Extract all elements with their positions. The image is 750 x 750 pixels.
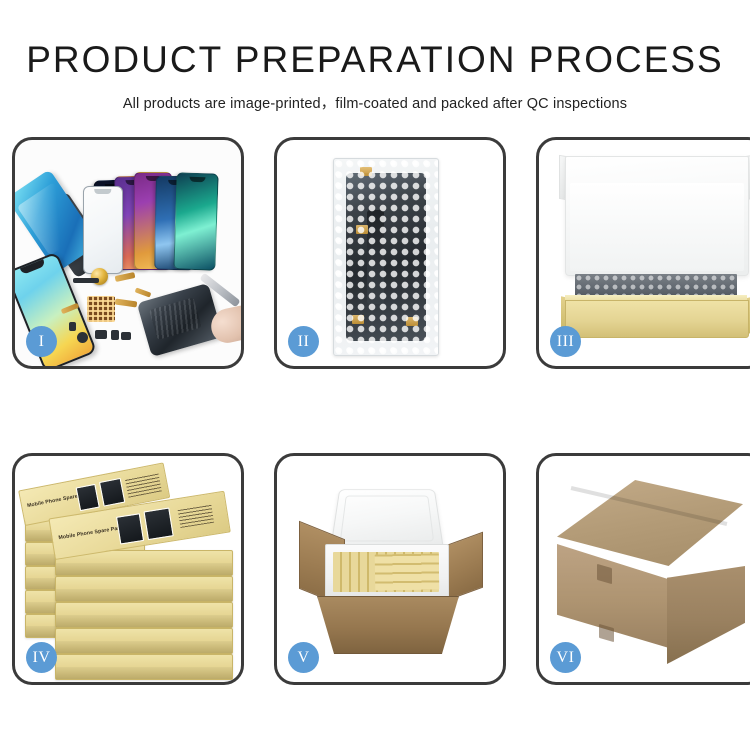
box-label-photo-icon [144, 507, 174, 540]
logic-board-chip-icon [87, 296, 115, 322]
carton-side-face [667, 566, 745, 664]
step-badge-6: VI [550, 642, 581, 673]
process-step-panel-6: VI [536, 453, 750, 685]
small-part-icon [69, 322, 76, 331]
product-preparation-process-page: PRODUCT PREPARATION PROCESS All products… [0, 0, 750, 750]
page-subtitle: All products are image-printed，film-coat… [0, 81, 750, 113]
small-part-icon [95, 330, 107, 339]
tape-strip-icon [360, 167, 372, 176]
box-label-text: Mobile Phone Spare Parts [58, 525, 125, 541]
process-step-panel-3: III [536, 137, 750, 369]
box-label-photo-icon [99, 478, 125, 507]
step-badge-1: I [26, 326, 57, 357]
step-badge-5: V [288, 642, 319, 673]
kraft-box-base-icon [565, 300, 749, 338]
white-foam-lid-icon [565, 156, 749, 276]
sealed-carton-icon [549, 480, 750, 660]
foam-box-lid-icon [330, 489, 444, 550]
process-step-panel-2: II [274, 137, 506, 369]
kraft-box-icon [55, 654, 233, 680]
kraft-box-icon [55, 602, 233, 628]
camera-part-icon [77, 332, 88, 343]
page-header: PRODUCT PREPARATION PROCESS All products… [0, 0, 750, 113]
bubble-wrap-bag-icon [333, 158, 439, 356]
tape-strip-icon [356, 225, 368, 234]
process-steps-grid: I II [12, 137, 738, 685]
step-badge-2: II [288, 326, 319, 357]
box-label-spec-lines [125, 472, 162, 498]
tape-strip-icon [406, 317, 418, 326]
kraft-box-icon [55, 628, 233, 654]
page-title: PRODUCT PREPARATION PROCESS [0, 0, 750, 81]
small-part-icon [111, 330, 119, 340]
box-label-photo-icon [116, 513, 144, 544]
step-badge-4: IV [26, 642, 57, 673]
small-part-icon [121, 332, 131, 340]
box-label-photo-icon [76, 484, 100, 511]
box-label-spec-lines [177, 503, 214, 528]
flex-cable-icon [135, 287, 152, 297]
carton-flap-tab-icon [599, 624, 614, 642]
tempered-glass-screen-icon [83, 186, 123, 274]
process-step-panel-1: I [12, 137, 244, 369]
kraft-boxes-inside-icon [375, 553, 440, 590]
step-badge-3: III [550, 326, 581, 357]
carton-body-icon [317, 596, 459, 654]
kraft-box-icon [55, 576, 233, 602]
process-step-panel-5: V [274, 453, 506, 685]
tape-strip-icon [352, 315, 364, 324]
speaker-part-icon [73, 278, 99, 283]
flex-cable-icon [115, 298, 138, 307]
phone-device-icon [173, 172, 218, 270]
process-step-panel-4: Mobile Phone Spare Parts Mobile Phone Sp… [12, 453, 244, 685]
